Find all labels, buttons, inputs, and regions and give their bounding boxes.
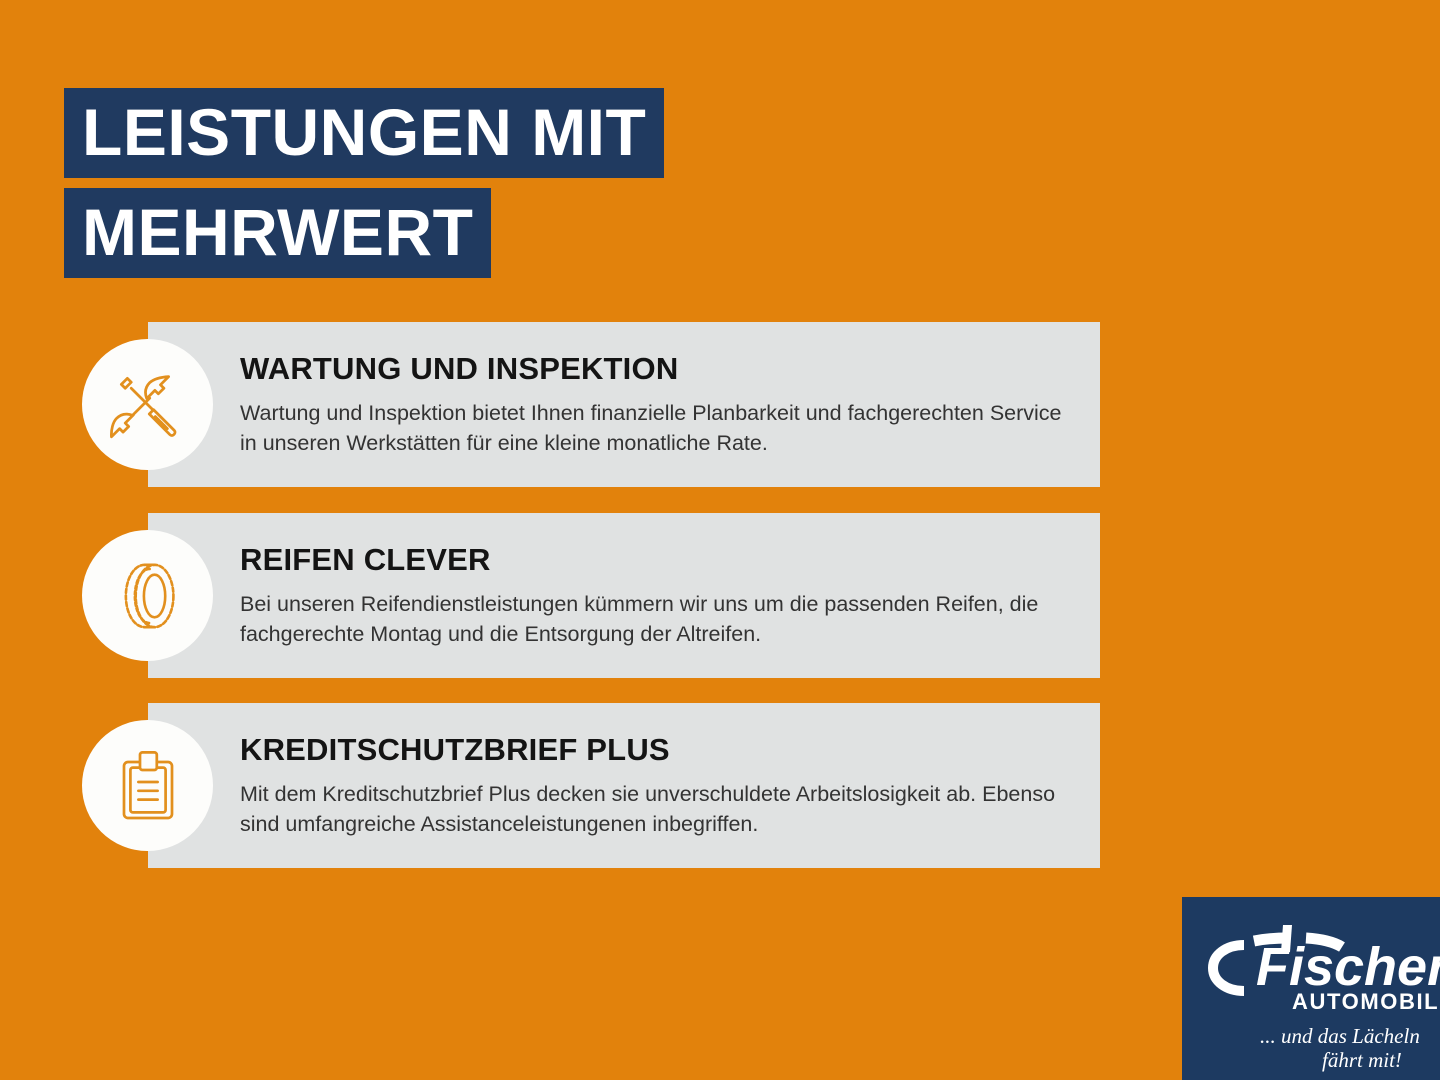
- title-line-1: LEISTUNGEN MIT: [64, 88, 664, 178]
- page-title: LEISTUNGEN MIT MEHRWERT: [64, 88, 664, 278]
- card-heading: KREDITSCHUTZBRIEF PLUS: [240, 734, 1080, 767]
- brand-logo: Fischer AUTOMOBILE ... und das Lächeln f…: [1182, 897, 1440, 1080]
- card-body: Mit dem Kreditschutzbrief Plus decken si…: [240, 779, 1080, 840]
- wrench-screwdriver-icon: [82, 339, 213, 470]
- logo-tagline-line-2: fährt mit!: [1322, 1048, 1402, 1072]
- title-line-2-row: MEHRWERT: [64, 188, 664, 278]
- clipboard-icon: [82, 720, 213, 851]
- title-line-2: MEHRWERT: [64, 188, 491, 278]
- slide-canvas: LEISTUNGEN MIT MEHRWERT: [0, 0, 1440, 1080]
- card-heading: WARTUNG UND INSPEKTION: [240, 353, 1080, 386]
- card-body: Bei unseren Reifendienstleistungen kümme…: [240, 589, 1080, 650]
- card-body: Wartung und Inspektion bietet Ihnen fina…: [240, 398, 1080, 459]
- logo-subtitle-text: AUTOMOBILE: [1292, 989, 1440, 1014]
- title-line-1-row: LEISTUNGEN MIT: [64, 88, 664, 178]
- logo-tagline-line-1: ... und das Lächeln: [1260, 1024, 1420, 1048]
- service-card-text: REIFEN CLEVER Bei unseren Reifendienstle…: [240, 544, 1080, 650]
- logo-brand-text: Fischer: [1256, 937, 1440, 997]
- service-card-text: WARTUNG UND INSPEKTION Wartung und Inspe…: [240, 353, 1080, 459]
- card-heading: REIFEN CLEVER: [240, 544, 1080, 577]
- tire-icon: [82, 530, 213, 661]
- service-card-text: KREDITSCHUTZBRIEF PLUS Mit dem Kreditsch…: [240, 734, 1080, 840]
